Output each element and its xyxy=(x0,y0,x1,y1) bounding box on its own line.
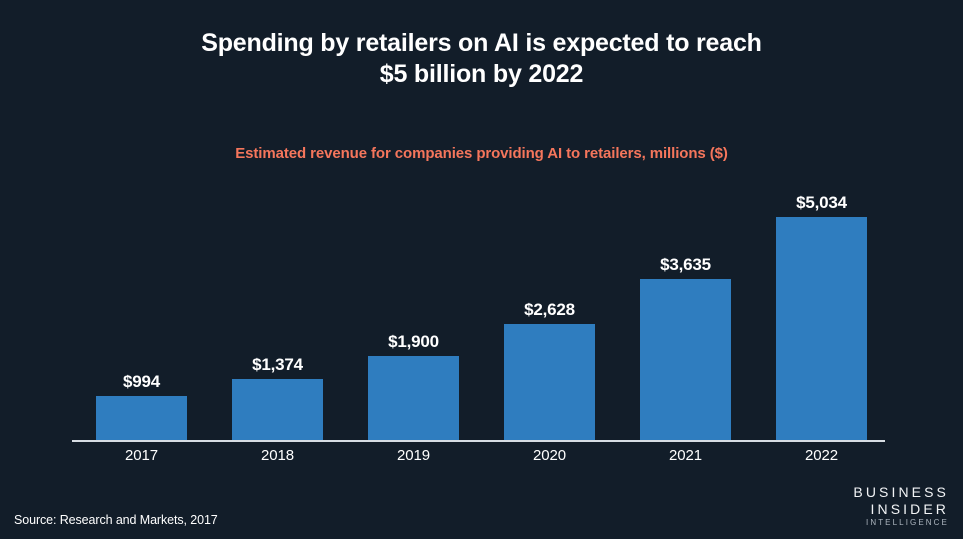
bar-group: $1,900 xyxy=(344,180,480,440)
x-axis-tick-2022: 2022 xyxy=(752,447,891,464)
x-axis-tick-2021: 2021 xyxy=(616,447,755,464)
bar-group: $994 xyxy=(72,180,208,440)
bar-2022[interactable] xyxy=(776,217,867,440)
page-title: Spending by retailers on AI is expected … xyxy=(0,28,963,90)
logo-line-business: BUSINESS xyxy=(853,484,949,501)
bar-value-label-2018: $1,374 xyxy=(208,355,347,375)
chart-subtitle: Estimated revenue for companies providin… xyxy=(0,145,963,162)
x-axis-labels: 201720182019202020212022 xyxy=(72,447,885,471)
x-axis-line xyxy=(72,440,885,442)
x-axis-tick-2017: 2017 xyxy=(72,447,211,464)
bar-group: $2,628 xyxy=(480,180,616,440)
business-insider-logo: BUSINESS INSIDER INTELLIGENCE xyxy=(853,484,949,527)
bar-group: $3,635 xyxy=(616,180,752,440)
logo-line-intelligence: INTELLIGENCE xyxy=(853,518,949,527)
bar-value-label-2020: $2,628 xyxy=(480,300,619,320)
bar-value-label-2021: $3,635 xyxy=(616,255,755,275)
bar-value-label-2019: $1,900 xyxy=(344,332,483,352)
x-axis-tick-2020: 2020 xyxy=(480,447,619,464)
plot-area: $994$1,374$1,900$2,628$3,635$5,034 xyxy=(72,180,885,441)
bar-2019[interactable] xyxy=(368,356,459,440)
bar-2021[interactable] xyxy=(640,279,731,440)
bar-2018[interactable] xyxy=(232,379,323,440)
x-axis-tick-2019: 2019 xyxy=(344,447,483,464)
bar-2017[interactable] xyxy=(96,396,187,440)
title-line-2: $5 billion by 2022 xyxy=(0,59,963,90)
title-line-1: Spending by retailers on AI is expected … xyxy=(0,28,963,59)
logo-line-insider: INSIDER xyxy=(853,501,949,518)
bar-series: $994$1,374$1,900$2,628$3,635$5,034 xyxy=(72,180,885,440)
x-axis-tick-2018: 2018 xyxy=(208,447,347,464)
bar-2020[interactable] xyxy=(504,324,595,440)
bar-value-label-2017: $994 xyxy=(72,372,211,392)
bar-value-label-2022: $5,034 xyxy=(752,193,891,213)
chart-page: Spending by retailers on AI is expected … xyxy=(0,0,963,539)
bar-group: $1,374 xyxy=(208,180,344,440)
source-note: Source: Research and Markets, 2017 xyxy=(14,513,218,527)
bar-group: $5,034 xyxy=(752,180,888,440)
